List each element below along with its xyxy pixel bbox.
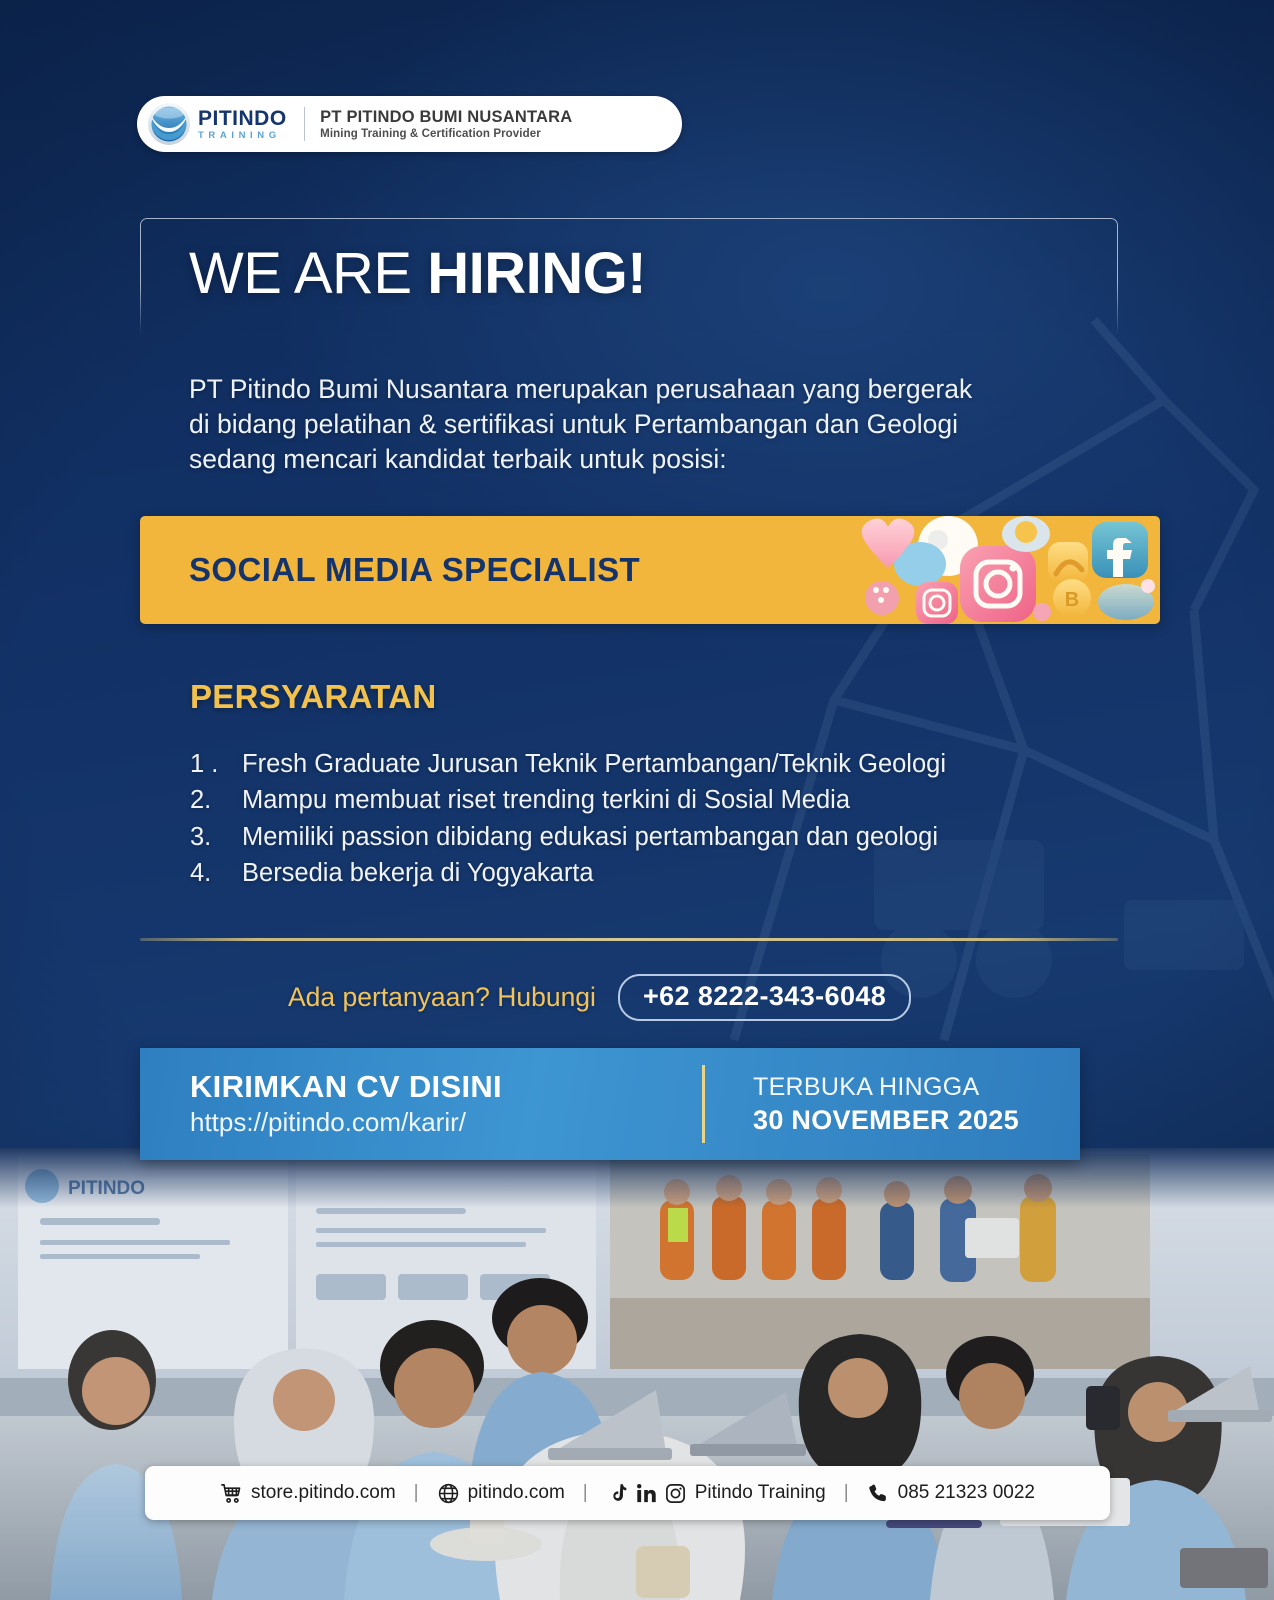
logo-sub: TRAINING [198, 131, 287, 141]
footer-store-item[interactable]: store.pitindo.com [220, 1482, 396, 1505]
intro-paragraph: PT Pitindo Bumi Nusantara merupakan peru… [189, 372, 1119, 478]
pitindo-wordmark: PITINDO TRAINING [198, 108, 287, 141]
list-item-number: 4. [190, 855, 242, 891]
position-title: SOCIAL MEDIA SPECIALIST [189, 551, 640, 589]
list-item: 3. Memiliki passion dibidang edukasi per… [190, 819, 1120, 855]
list-item-number: 1 . [190, 746, 242, 782]
svg-text:B: B [1065, 589, 1079, 611]
cv-deadline-label: TERBUKA HINGGA [753, 1072, 1019, 1102]
footer-social-item[interactable]: Pitindo Training [606, 1482, 826, 1505]
tiktok-icon[interactable] [606, 1482, 629, 1505]
cv-deadline-date: 30 NOVEMBER 2025 [753, 1104, 1019, 1136]
cv-submission-bar: KIRIMKAN CV DISINI https://pitindo.com/k… [140, 1048, 1080, 1160]
logo-name: PITINDO [198, 108, 287, 129]
intro-line-3: sedang mencari kandidat terbaik untuk po… [189, 442, 1119, 477]
page-title: WE ARE HIRING! [189, 240, 646, 307]
company-block: PT PITINDO BUMI NUSANTARA Mining Trainin… [320, 108, 572, 140]
logo-divider [304, 107, 306, 141]
pitindo-circle-logo-icon [147, 102, 191, 146]
list-item: 2. Mampu membuat riset trending terkini … [190, 782, 1120, 818]
list-item-text: Bersedia bekerja di Yogyakarta [242, 855, 594, 891]
office-team-photo: PITINDO [0, 1148, 1274, 1600]
footer-phone-item[interactable]: 085 21323 0022 [867, 1482, 1035, 1505]
linkedin-icon[interactable] [635, 1482, 658, 1505]
footer-separator: | [414, 1482, 419, 1504]
footer-website-label: pitindo.com [468, 1482, 565, 1504]
phone-icon [867, 1482, 890, 1505]
cv-submit-url[interactable]: https://pitindo.com/karir/ [190, 1108, 702, 1138]
globe-icon [437, 1482, 460, 1505]
cv-submit-label: KIRIMKAN CV DISINI [190, 1070, 702, 1105]
contact-question: Ada pertanyaan? Hubungi [288, 982, 596, 1013]
intro-line-2: di bidang pelatihan & sertifikasi untuk … [189, 407, 1119, 442]
instagram-icon[interactable] [664, 1482, 687, 1505]
cv-deadline-block: TERBUKA HINGGA 30 NOVEMBER 2025 [705, 1072, 1019, 1136]
title-light-part: WE ARE [189, 241, 427, 306]
cv-submit-block: KIRIMKAN CV DISINI https://pitindo.com/k… [140, 1070, 702, 1138]
footer-social-icons [606, 1482, 687, 1505]
requirements-list: 1 . Fresh Graduate Jurusan Teknik Pertam… [190, 746, 1120, 892]
list-item-number: 2. [190, 782, 242, 818]
company-tagline: Mining Training & Certification Provider [320, 128, 572, 140]
list-item-text: Mampu membuat riset trending terkini di … [242, 782, 850, 818]
footer-store-label: store.pitindo.com [251, 1482, 396, 1504]
footer-separator: | [844, 1482, 849, 1504]
shopping-cart-icon [220, 1482, 243, 1505]
list-item-text: Memiliki passion dibidang edukasi pertam… [242, 819, 938, 855]
company-name: PT PITINDO BUMI NUSANTARA [320, 108, 572, 127]
list-item: 1 . Fresh Graduate Jurusan Teknik Pertam… [190, 746, 1120, 782]
list-item: 4. Bersedia bekerja di Yogyakarta [190, 855, 1120, 891]
footer-social-handle: Pitindo Training [695, 1482, 826, 1504]
brand-logo-bar: PITINDO TRAINING PT PITINDO BUMI NUSANTA… [137, 96, 682, 152]
footer-website-item[interactable]: pitindo.com [437, 1482, 565, 1505]
intro-line-1: PT Pitindo Bumi Nusantara merupakan peru… [189, 372, 1119, 407]
list-item-number: 3. [190, 819, 242, 855]
contact-phone-badge[interactable]: +62 8222-343-6048 [618, 974, 911, 1021]
gold-divider [140, 938, 1118, 941]
footer-phone-label: 085 21323 0022 [898, 1482, 1035, 1504]
contact-row: Ada pertanyaan? Hubungi +62 8222-343-604… [288, 974, 911, 1021]
requirements-heading: PERSYARATAN [190, 678, 437, 716]
title-bold-part: HIRING! [427, 241, 646, 306]
footer-contact-bar: store.pitindo.com | pitindo.com | [145, 1466, 1110, 1520]
position-banner: SOCIAL MEDIA SPECIALIST [140, 516, 1160, 624]
footer-separator: | [583, 1482, 588, 1504]
list-item-text: Fresh Graduate Jurusan Teknik Pertambang… [242, 746, 946, 782]
social-media-3d-icons-icon: B [830, 516, 1160, 624]
